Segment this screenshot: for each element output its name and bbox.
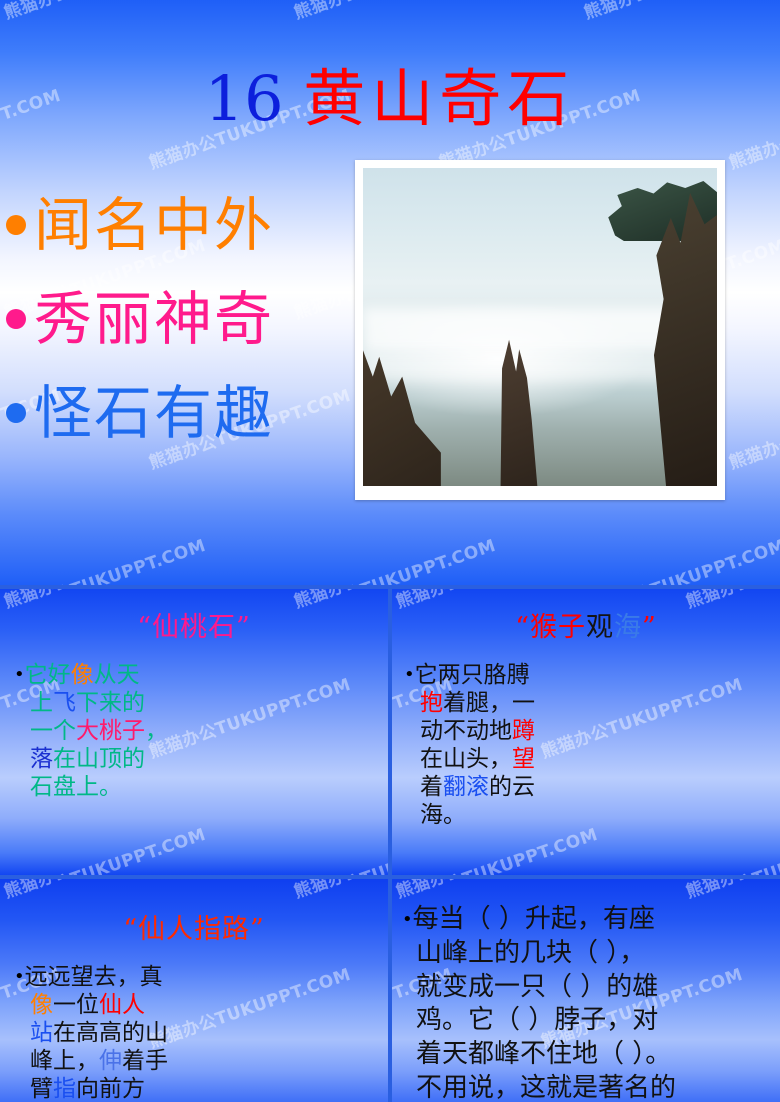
page-title: 16 黄山奇石 — [0, 68, 780, 130]
bullet-item-0: 闻名中外 — [6, 178, 366, 272]
slide-2-title-text: 仙桃石 — [152, 612, 236, 643]
slide-5-body: •每当（ ）升起，有座 山峰上的几块（ ）， 就变成一只（ ）的雄 鸡。它（ ）… — [402, 903, 676, 1102]
blank-line-1: 山峰上的几块（ ）， — [416, 938, 645, 968]
slide-2-title: “仙桃石” — [0, 605, 388, 644]
bullet-label-0: 闻名中外 — [34, 196, 274, 254]
lesson-number: 16 — [205, 62, 284, 135]
close-quote: ” — [250, 914, 265, 945]
photo-image-1 — [363, 168, 717, 486]
slide-3-title-part3: 海 — [614, 612, 642, 643]
slide-5-fill-in-blanks: 熊猫办公TUKUPPT.COM熊猫办公TUKUPPT.COM熊猫办公TUKUPP… — [392, 879, 780, 1102]
blank-line-2: 就变成一只（ ）的雄 — [416, 972, 658, 1002]
slide-2-xiantaoshi: 熊猫办公TUKUPPT.COM熊猫办公TUKUPPT.COM熊猫办公TUKUPP… — [0, 589, 388, 875]
keyword-bullet-list: 闻名中外 秀丽神奇 怪石有趣 — [6, 178, 366, 460]
blank-line-5: 不用说，这就是著名的 — [416, 1073, 676, 1102]
slide-2-body: •它好像从天 上飞下来的 一个大桃子， 落在山顶的 石盘上。 — [14, 661, 168, 801]
open-quote: “ — [137, 612, 152, 643]
bullet-label-1: 秀丽神奇 — [34, 290, 274, 348]
slide-4-title: “仙人指路” — [0, 907, 388, 946]
close-quote: ” — [642, 612, 657, 643]
body-bullet-icon: • — [14, 664, 25, 685]
blank-line-0: 每当（ ）升起，有座 — [413, 904, 655, 934]
blank-line-4: 着天都峰不住地（ ）。 — [416, 1039, 671, 1069]
open-quote: “ — [515, 612, 530, 643]
slide-4-body: •远远望去，真 像一位仙人 站在高高的山 峰上，伸着手 臂指向前方 — [14, 963, 168, 1102]
lesson-title-text: 黄山奇石 — [303, 62, 575, 135]
slide-3-body: •它两只胳膊 抱着腿，一 动不动地蹲 在山头，望 着翻滚的云 海。 — [404, 661, 535, 829]
body-bullet-icon: • — [14, 966, 25, 987]
bullet-item-1: 秀丽神奇 — [6, 272, 366, 366]
slide-deck: 熊猫办公TUKUPPT.COM熊猫办公TUKUPPT.COM熊猫办公TUKUPP… — [0, 0, 780, 1102]
bullet-dot-icon — [6, 309, 26, 329]
slide-3-title-part1: 猴子 — [530, 612, 586, 643]
body-bullet-icon: • — [402, 909, 413, 930]
slide-3-houziguanhai: 熊猫办公TUKUPPT.COM熊猫办公TUKUPPT.COM熊猫办公TUKUPP… — [392, 589, 780, 875]
bullet-dot-icon — [6, 403, 26, 423]
bullet-item-2: 怪石有趣 — [6, 366, 366, 460]
slide-4-xianrenzhilu: 熊猫办公TUKUPPT.COM熊猫办公TUKUPPT.COM熊猫办公TUKUPP… — [0, 879, 388, 1102]
bullet-label-2: 怪石有趣 — [34, 384, 274, 442]
close-quote: ” — [236, 612, 251, 643]
slide-4-title-text: 仙人指路 — [138, 914, 250, 945]
open-quote: “ — [123, 914, 138, 945]
body-bullet-icon: • — [404, 664, 415, 685]
slide-1-title: 熊猫办公TUKUPPT.COM熊猫办公TUKUPPT.COM熊猫办公TUKUPP… — [0, 0, 780, 585]
slide-3-title-part2: 观 — [586, 612, 614, 643]
bullet-dot-icon — [6, 215, 26, 235]
blank-line-3: 鸡。它（ ）脖子，对 — [416, 1005, 658, 1035]
huangshan-photo — [355, 160, 725, 500]
slide-3-title: “猴子观海” — [392, 605, 780, 644]
